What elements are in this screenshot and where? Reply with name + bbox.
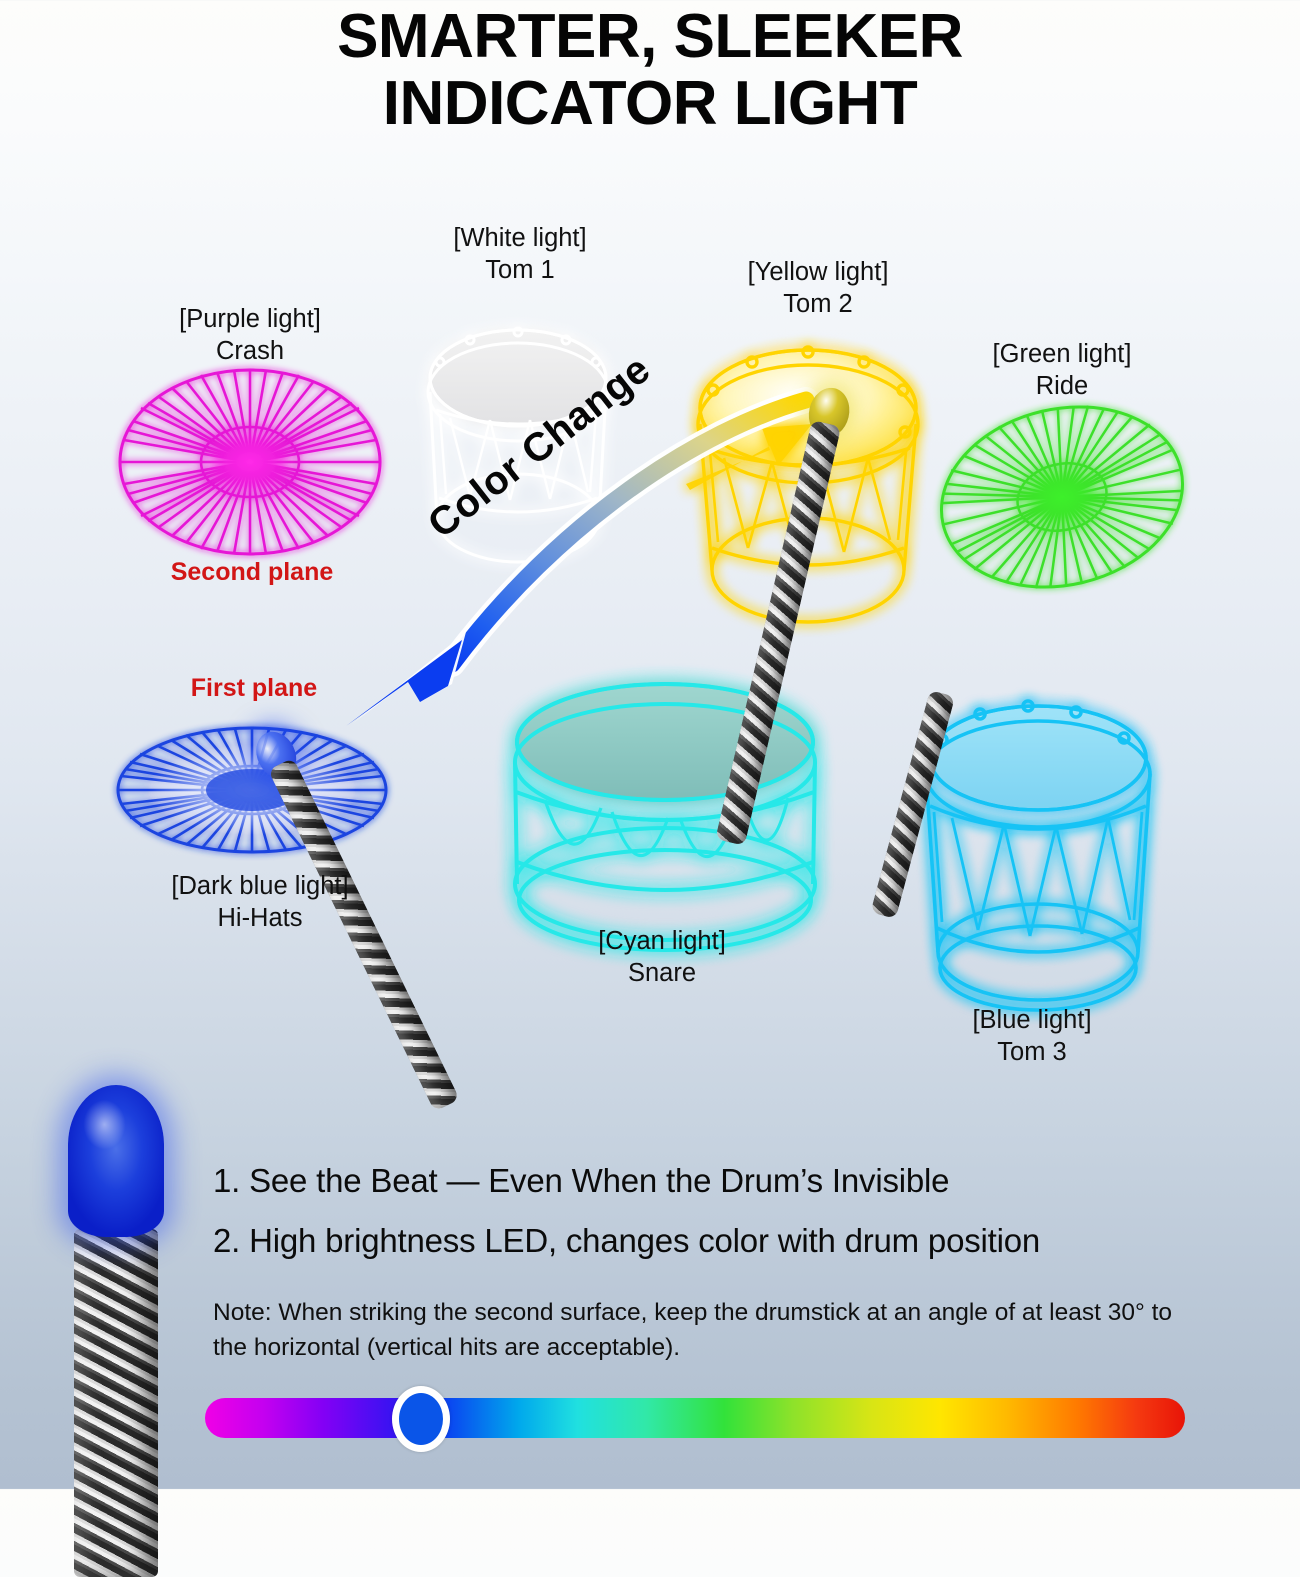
label-tom1-light: [White light] xyxy=(420,222,620,254)
color-slider-track[interactable] xyxy=(205,1398,1185,1438)
ride-cymbal xyxy=(923,384,1200,610)
label-tom3: [Blue light] Tom 3 xyxy=(932,1004,1132,1069)
label-ride-light: [Green light] xyxy=(962,338,1162,370)
product-shaft-carbon xyxy=(74,1229,158,1577)
color-slider-knob[interactable] xyxy=(392,1386,450,1452)
label-snare-light: [Cyan light] xyxy=(562,925,762,957)
product-led-tip xyxy=(68,1085,164,1237)
label-tom3-name: Tom 3 xyxy=(932,1036,1132,1068)
feature-item-2: 2. High brightness LED, changes color wi… xyxy=(213,1222,1040,1260)
feature-item-1: 1. See the Beat — Even When the Drum’s I… xyxy=(213,1162,949,1200)
label-ride-name: Ride xyxy=(962,370,1162,402)
label-tom1-name: Tom 1 xyxy=(420,254,620,286)
hihat-cymbal xyxy=(118,728,386,852)
label-tom2-name: Tom 2 xyxy=(718,288,918,320)
label-hihat: [Dark blue light] Hi-Hats xyxy=(140,870,380,935)
drumstick-shaft-carbon xyxy=(715,420,841,846)
label-snare-name: Snare xyxy=(562,957,762,989)
label-tom1: [White light] Tom 1 xyxy=(420,222,620,287)
note-text: Note: When striking the second surface, … xyxy=(213,1296,1173,1366)
tom3-drum xyxy=(926,701,1150,1010)
label-hihat-light: [Dark blue light] xyxy=(140,870,380,902)
color-change-arrow xyxy=(346,400,806,726)
drum-kit-illustration xyxy=(0,0,1300,1489)
label-tom3-light: [Blue light] xyxy=(932,1004,1132,1036)
impact-arrow xyxy=(686,424,812,490)
label-snare: [Cyan light] Snare xyxy=(562,925,762,990)
label-hihat-name: Hi-Hats xyxy=(140,902,380,934)
product-drumstick xyxy=(68,1085,164,1489)
color-change-label: Color Change xyxy=(420,347,659,548)
title-line-2: INDICATOR LIGHT xyxy=(0,71,1300,138)
title-line-1: SMARTER, SLEEKER xyxy=(0,4,1300,71)
label-crash: [Purple light] Crash xyxy=(150,303,350,368)
label-crash-light: [Purple light] xyxy=(150,303,350,335)
label-tom2-light: [Yellow light] xyxy=(718,256,918,288)
label-first-plane: First plane xyxy=(178,674,330,703)
label-ride: [Green light] Ride xyxy=(962,338,1162,403)
label-second-plane: Second plane xyxy=(160,558,344,587)
page-title: SMARTER, SLEEKER INDICATOR LIGHT xyxy=(0,4,1300,138)
drumstick-shaft-carbon xyxy=(870,690,955,919)
crash-cymbal xyxy=(120,370,380,554)
label-crash-name: Crash xyxy=(150,335,350,367)
label-tom2: [Yellow light] Tom 2 xyxy=(718,256,918,321)
infographic-canvas: SMARTER, SLEEKER INDICATOR LIGHT xyxy=(0,0,1300,1489)
